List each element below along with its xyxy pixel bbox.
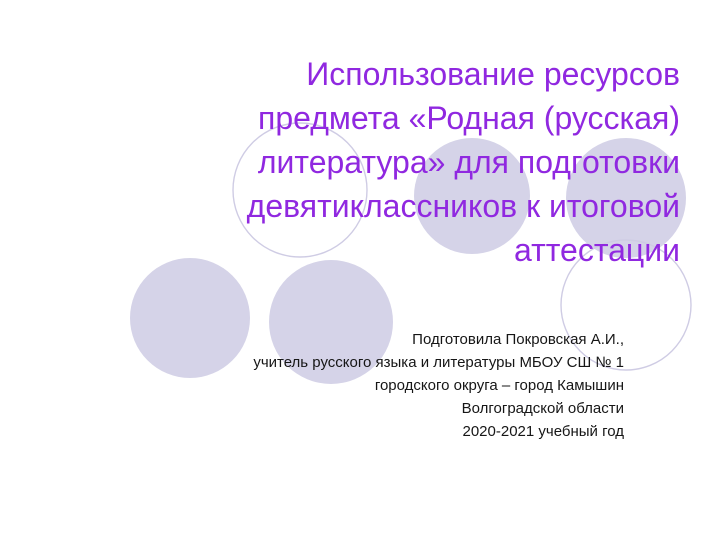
subtitle-line: городского округа – город Камышин bbox=[60, 374, 624, 397]
slide-text-layer: Использование ресурсов предмета «Родная … bbox=[0, 0, 720, 540]
presentation-slide: Использование ресурсов предмета «Родная … bbox=[0, 0, 720, 540]
title-line: предмета «Родная (русская) bbox=[36, 96, 680, 140]
subtitle-line: учитель русского языка и литературы МБОУ… bbox=[60, 351, 624, 374]
title-line: Использование ресурсов bbox=[36, 52, 680, 96]
subtitle-line: Волгоградской области bbox=[60, 397, 624, 420]
title-line: аттестации bbox=[36, 228, 680, 272]
slide-title: Использование ресурсов предмета «Родная … bbox=[36, 52, 680, 272]
subtitle-line: 2020-2021 учебный год bbox=[60, 420, 624, 443]
subtitle-line: Подготовила Покровская А.И., bbox=[60, 328, 624, 351]
title-line: девятиклассников к итоговой bbox=[36, 184, 680, 228]
title-line: литература» для подготовки bbox=[36, 140, 680, 184]
slide-subtitle: Подготовила Покровская А.И., учитель рус… bbox=[60, 328, 624, 443]
